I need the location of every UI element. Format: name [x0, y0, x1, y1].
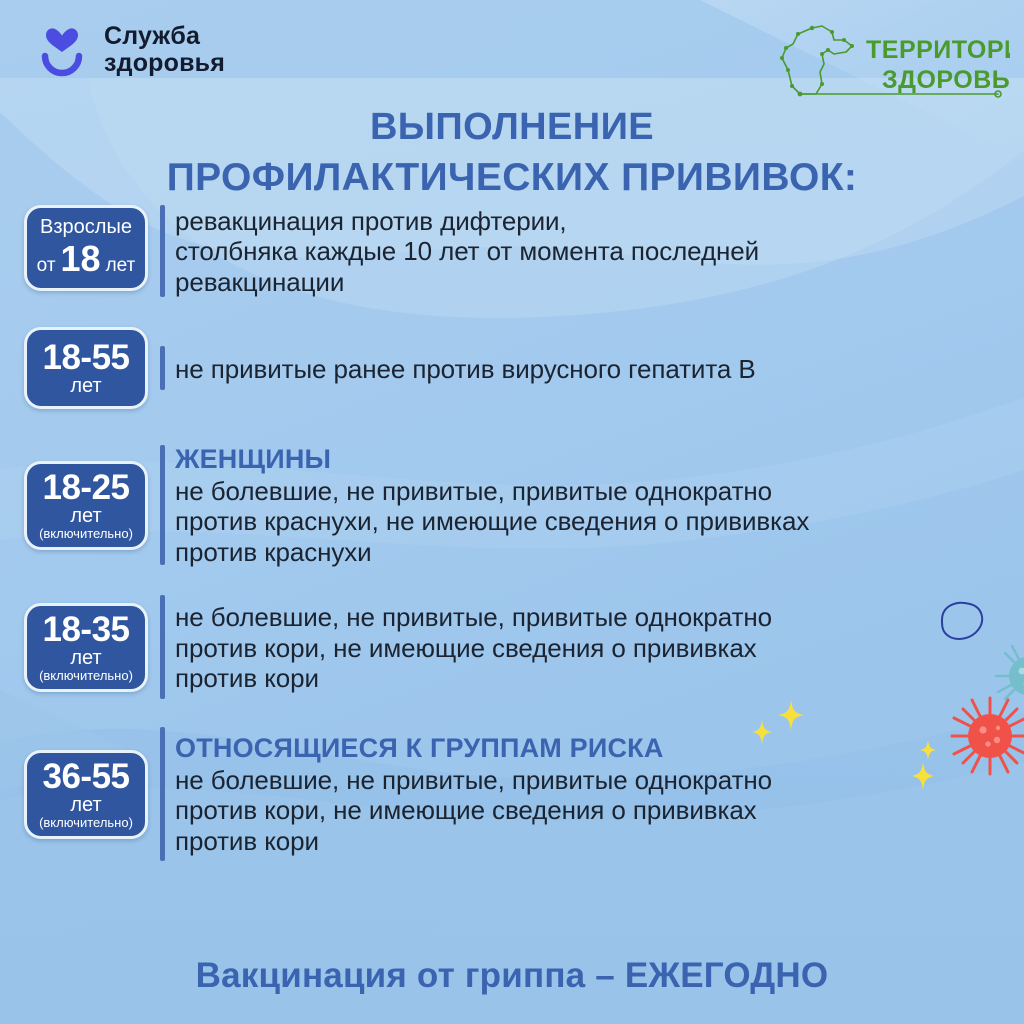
badge-number: 18 [61, 238, 101, 280]
badge-note: (включительно) [39, 816, 133, 830]
row-heading: ОТНОСЯЩИЕСЯ К ГРУППАМ РИСКА [175, 733, 1010, 764]
row-divider [160, 205, 165, 297]
badge-preposition: от [37, 255, 56, 277]
row-text: ревакцинация против дифтерии, столбняка … [175, 206, 1010, 297]
infographic-poster: Служба здоровья ТЕРРИТОРИЯ ЗДОРОВЬЯ [0, 0, 1024, 1024]
title-line-1: ВЫПОЛНЕНИЕ [30, 102, 994, 152]
region-logo-line-1: ТЕРРИТОРИЯ [866, 36, 1010, 64]
row-text: не привитые ранее против вирусного гепат… [175, 354, 1010, 384]
vaccination-row: 18-55 лет не привитые ранее против вирус… [0, 327, 1024, 409]
row-text-line: против краснухи [175, 537, 1010, 567]
row-text-line: ревакцинации [175, 267, 1010, 297]
row-text-line: против кори [175, 663, 1010, 693]
region-logo-line-2: ЗДОРОВЬЯ [882, 66, 1010, 94]
row-text-line: ревакцинация против дифтерии, [175, 206, 1010, 236]
title-line-2: ПРОФИЛАКТИЧЕСКИХ ПРИВИВОК: [30, 152, 994, 203]
row-text-line: против кори, не имеющие сведения о приви… [175, 633, 1010, 663]
vaccination-row: 18-35 лет (включительно) не болевшие, не… [0, 595, 1024, 699]
age-badge: 18-25 лет (включительно) [24, 461, 148, 550]
badge-unit: лет [106, 255, 136, 277]
age-badge: 36-55 лет (включительно) [24, 750, 148, 839]
badge-number: 18-55 [42, 340, 129, 375]
badge-unit: лет [70, 648, 101, 669]
vaccination-rows: Взрослые от 18 лет ревакцинация против д… [0, 205, 1024, 861]
badge-prefix-label: Взрослые [40, 217, 132, 238]
heart-smile-icon [34, 22, 90, 78]
badge-number: 18-25 [42, 470, 129, 505]
page-title: ВЫПОЛНЕНИЕ ПРОФИЛАКТИЧЕСКИХ ПРИВИВОК: [0, 102, 1024, 204]
row-divider [160, 727, 165, 861]
badge-unit: лет [70, 376, 101, 397]
row-text-line: не болевшие, не привитые, привитые однок… [175, 476, 1010, 506]
badge-number: 18-35 [42, 612, 129, 647]
vaccination-row: 36-55 лет (включительно) ОТНОСЯЩИЕСЯ К Г… [0, 727, 1024, 861]
row-divider [160, 445, 165, 565]
badge-number: 36-55 [42, 759, 129, 794]
age-badge: Взрослые от 18 лет [24, 205, 148, 291]
row-text-line: против краснухи, не имеющие сведения о п… [175, 506, 1010, 536]
badge-note: (включительно) [39, 527, 133, 541]
age-badge: 18-35 лет (включительно) [24, 603, 148, 692]
row-text-line: против кори [175, 826, 1010, 856]
row-text-line: столбняка каждые 10 лет от момента после… [175, 236, 1010, 266]
brand-line-2: здоровья [104, 50, 225, 77]
vaccination-row: 18-25 лет (включительно) ЖЕНЩИНЫ не боле… [0, 443, 1024, 567]
badge-note: (включительно) [39, 669, 133, 683]
row-divider [160, 595, 165, 699]
row-heading: ЖЕНЩИНЫ [175, 444, 1010, 475]
badge-unit: лет [70, 795, 101, 816]
brand-logo: Служба здоровья [34, 22, 225, 78]
footer-note: Вакцинация от гриппа – ЕЖЕГОДНО [0, 956, 1024, 996]
row-text: не болевшие, не привитые, привитые однок… [175, 765, 1010, 856]
vaccination-row: Взрослые от 18 лет ревакцинация против д… [0, 205, 1024, 297]
region-logo: ТЕРРИТОРИЯ ЗДОРОВЬЯ [760, 14, 1010, 110]
row-text: не болевшие, не привитые, привитые однок… [175, 476, 1010, 567]
brand-line-1: Служба [104, 23, 225, 50]
badge-unit: лет [70, 506, 101, 527]
row-text: не болевшие, не привитые, привитые однок… [175, 602, 1010, 693]
row-divider [160, 346, 165, 390]
row-text-line: не болевшие, не привитые, привитые однок… [175, 765, 1010, 795]
row-text-line: против кори, не имеющие сведения о приви… [175, 795, 1010, 825]
age-badge: 18-55 лет [24, 327, 148, 409]
row-text-line: не болевшие, не привитые, привитые однок… [175, 602, 1010, 632]
row-text-line: не привитые ранее против вирусного гепат… [175, 354, 1010, 384]
